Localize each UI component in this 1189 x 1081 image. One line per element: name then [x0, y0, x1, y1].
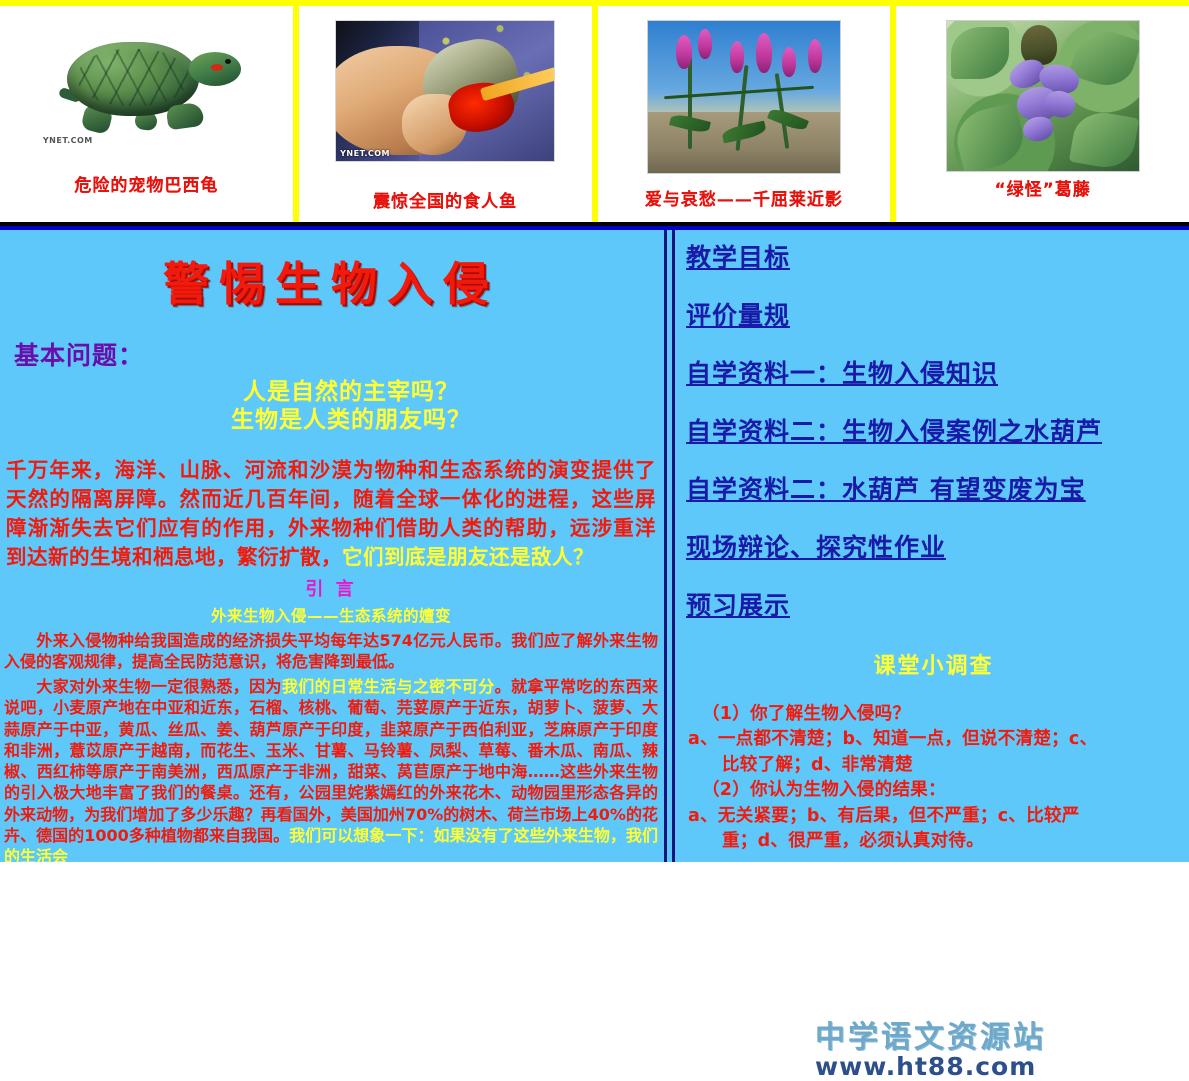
- loosestrife-flower: [756, 33, 772, 73]
- survey-q1-options-line-1: a、一点都不清楚；b、知道一点，但说不清楚；c、: [688, 727, 1181, 752]
- gallery-caption-turtle: 危险的宠物巴西龟: [74, 171, 218, 196]
- survey-question-2: （2）你认为生物入侵的结果：: [702, 778, 1181, 803]
- dense-paragraph-2-part-a: 大家对外来生物一定很熟悉，因为: [36, 677, 282, 696]
- slide-root: YNET.COM 危险的宠物巴西龟 YNET.COM 震惊全国的食人鱼: [0, 0, 1189, 862]
- column-divider-right-line: [672, 230, 675, 862]
- photo-red-eared-slider-turtle: YNET.COM: [39, 28, 254, 148]
- intro-paragraph: 千万年来，海洋、山脉、河流和沙漠为物种和生态系统的演变提供了天然的隔离屏障。然而…: [6, 456, 656, 572]
- nav-link-evaluation-rubric[interactable]: 评价量规: [686, 296, 1189, 332]
- nav-link-self-study-material-3[interactable]: 自学资料二：水葫芦 有望变废为宝: [686, 470, 1189, 506]
- right-nav-column: 教学目标 评价量规 自学资料一：生物入侵知识 自学资料二：生物入侵案例之水葫芦 …: [678, 230, 1189, 862]
- kudzu-bud: [1021, 25, 1057, 65]
- dense-paragraph-2-part-b: 。就拿平常吃的东西来说吧，小麦原产地在中亚和近东，石榴、核桃、葡萄、芫荽原产于近…: [4, 677, 658, 845]
- gallery-cell-turtle[interactable]: YNET.COM 危险的宠物巴西龟: [0, 6, 293, 222]
- gallery-caption-loosestrife: 爱与哀愁——千屈莱近影: [645, 185, 843, 210]
- nav-link-self-study-material-1[interactable]: 自学资料一：生物入侵知识: [686, 354, 1189, 390]
- loosestrife-flower: [782, 47, 796, 77]
- turtle-leg-rear: [165, 102, 204, 131]
- photo-watermark: YNET.COM: [340, 149, 390, 158]
- basic-question-label: 基本问题：: [14, 336, 662, 372]
- survey-title: 课堂小调查: [678, 648, 1189, 680]
- survey-question-1: （1）你了解生物入侵吗？: [702, 702, 1181, 727]
- site-watermark: 中学语文资源站 www.ht88.com: [815, 1012, 1046, 1081]
- survey-q2-options-line-1: a、无关紧要；b、有后果，但不严重；c、比较严: [688, 804, 1181, 829]
- section-heading-preface: 引 言: [0, 575, 662, 601]
- kudzu-petal: [1021, 115, 1054, 143]
- left-content-column: 警惕生物入侵 基本问题： 人是自然的主宰吗？ 生物是人类的朋友吗？ 千万年来，海…: [0, 230, 662, 862]
- photo-kudzu-vine-flower: [946, 20, 1140, 172]
- basic-question-list: 人是自然的主宰吗？ 生物是人类的朋友吗？: [40, 378, 662, 434]
- kudzu-leaf: [1068, 108, 1138, 172]
- nav-link-debate-and-homework[interactable]: 现场辩论、探究性作业: [686, 528, 1189, 564]
- loosestrife-flower: [808, 39, 822, 73]
- photo-watermark: YNET.COM: [43, 136, 93, 145]
- loosestrife-flower: [676, 35, 692, 69]
- image-gallery-strip: YNET.COM 危险的宠物巴西龟 YNET.COM 震惊全国的食人鱼: [0, 0, 1189, 222]
- photo-piranha-bite: YNET.COM: [335, 20, 555, 162]
- survey-body: （1）你了解生物入侵吗？ a、一点都不清楚；b、知道一点，但说不清楚；c、 比较…: [688, 702, 1181, 854]
- loosestrife-flower: [698, 29, 712, 59]
- photo-purple-loosestrife: [647, 20, 841, 174]
- basic-question-2: 生物是人类的朋友吗？: [40, 406, 662, 434]
- gallery-caption-piranha: 震惊全国的食人鱼: [373, 187, 517, 212]
- gallery-cell-piranha[interactable]: YNET.COM 震惊全国的食人鱼: [299, 6, 592, 222]
- turtle-eye: [225, 59, 231, 64]
- turtle-red-ear-mark: [211, 64, 223, 71]
- kudzu-leaf: [951, 102, 1029, 172]
- page-title: 警惕生物入侵: [0, 248, 662, 314]
- site-watermark-url: www.ht88.com: [815, 1052, 1046, 1081]
- dense-paragraph-2-highlight: 我们的日常生活与之密不可分: [282, 677, 495, 696]
- column-divider-left-line: [664, 230, 667, 862]
- gallery-caption-kudzu: “绿怪”葛藤: [994, 175, 1090, 200]
- dense-paragraph-2: 大家对外来生物一定很熟悉，因为我们的日常生活与之密不可分。就拿平常吃的东西来说吧…: [4, 676, 658, 862]
- gallery-cell-kudzu[interactable]: “绿怪”葛藤: [896, 6, 1189, 222]
- survey-q2-options-line-2: 重；d、很严重，必须认真对待。: [722, 829, 1181, 854]
- loosestrife-branch: [664, 86, 814, 99]
- dense-paragraph-1-text: 外来入侵物种给我国造成的经济损失平均每年达574亿元人民币。我们应了解外来生物入…: [4, 631, 658, 671]
- nav-link-teaching-goals[interactable]: 教学目标: [686, 238, 1189, 274]
- kudzu-leaf: [951, 27, 1009, 79]
- nav-link-self-study-material-2[interactable]: 自学资料二：生物入侵案例之水葫芦: [686, 412, 1189, 448]
- gallery-cell-loosestrife[interactable]: 爱与哀愁——千屈莱近影: [598, 6, 891, 222]
- dense-paragraph-1: 外来入侵物种给我国造成的经济损失平均每年达574亿元人民币。我们应了解外来生物入…: [4, 630, 658, 673]
- slide-body: 警惕生物入侵 基本问题： 人是自然的主宰吗？ 生物是人类的朋友吗？ 千万年来，海…: [0, 230, 1189, 862]
- survey-q1-options-line-2: 比较了解；d、非常清楚: [722, 753, 1181, 778]
- basic-question-1: 人是自然的主宰吗？: [40, 378, 662, 406]
- intro-paragraph-highlight: 它们到底是朋友还是敌人？: [342, 545, 594, 569]
- nav-link-preview-presentation[interactable]: 预习展示: [686, 586, 1189, 622]
- section-subheading: 外来生物入侵——生态系统的嬗变: [0, 604, 662, 626]
- site-watermark-name: 中学语文资源站: [815, 1012, 1046, 1056]
- loosestrife-stem: [688, 57, 692, 149]
- loosestrife-flower: [730, 41, 744, 73]
